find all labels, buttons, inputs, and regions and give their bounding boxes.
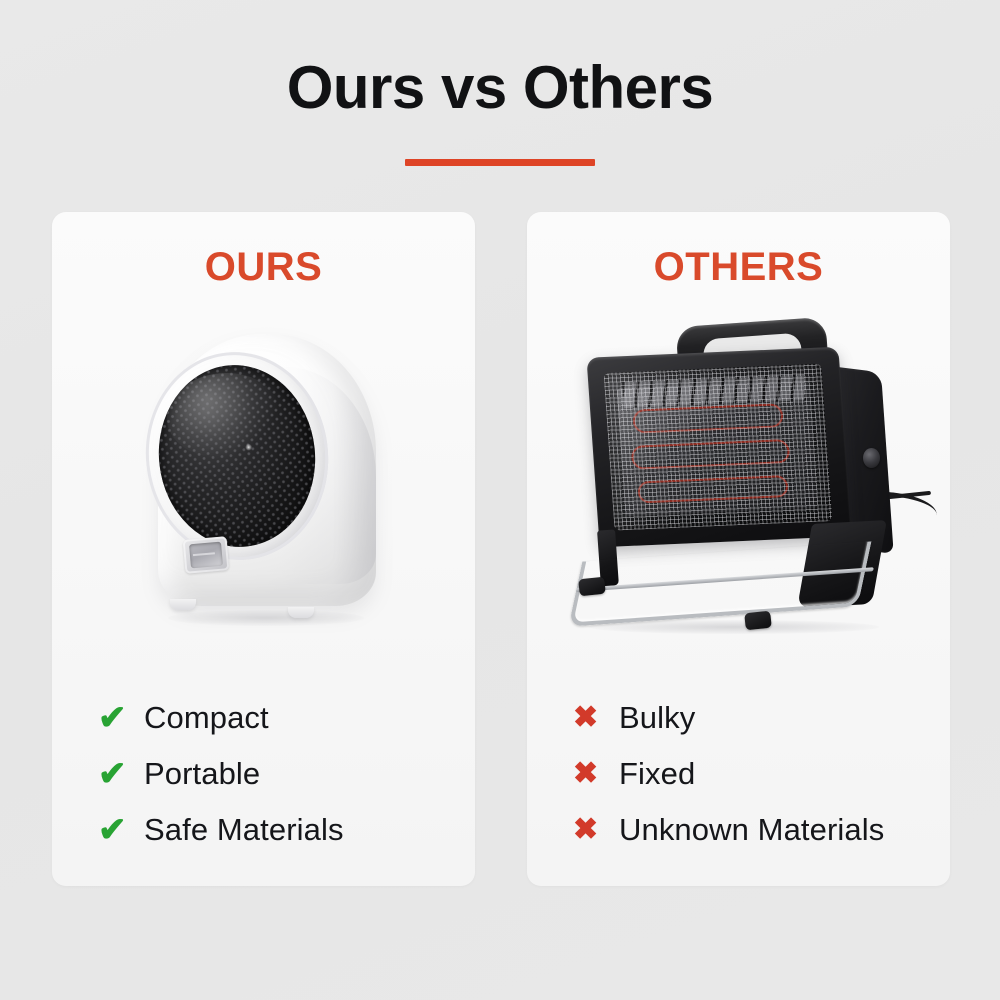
heater-grille xyxy=(604,363,833,530)
product-contact-shadow xyxy=(168,610,364,626)
list-item: ✔ Compact xyxy=(98,690,451,746)
list-item: ✖ Unknown Materials xyxy=(573,802,926,858)
heater-grille xyxy=(150,357,324,554)
product-image-ours xyxy=(52,312,475,662)
feature-label: Portable xyxy=(144,756,260,792)
list-item: ✖ Fixed xyxy=(573,746,926,802)
card-title-others: OTHERS xyxy=(527,245,950,290)
feature-list-others: ✖ Bulky ✖ Fixed ✖ Unknown Materials xyxy=(573,690,926,858)
comparison-cards: OURS xyxy=(52,212,950,886)
quartz-radiant-heater-illustration xyxy=(569,316,929,634)
control-knob xyxy=(863,448,880,468)
power-rocker-switch xyxy=(183,536,230,574)
cross-icon: ✖ xyxy=(573,703,619,733)
rocker-switch-inner xyxy=(189,542,223,569)
honeycomb-mesh-pattern xyxy=(150,357,324,554)
compact-ceramic-heater-illustration xyxy=(140,328,392,628)
card-ours: OURS xyxy=(52,212,475,886)
comparison-infographic: Ours vs Others OURS xyxy=(0,0,1000,1000)
list-item: ✔ Safe Materials xyxy=(98,802,451,858)
heater-body-box xyxy=(586,347,851,548)
check-icon: ✔ xyxy=(98,701,144,735)
check-icon: ✔ xyxy=(98,757,144,791)
card-others: OTHERS xyxy=(527,212,950,886)
feature-label: Fixed xyxy=(619,756,695,792)
list-item: ✖ Bulky xyxy=(573,690,926,746)
check-icon: ✔ xyxy=(98,813,144,847)
grille-glare-highlight xyxy=(604,363,747,530)
card-title-ours: OURS xyxy=(52,245,475,290)
title-underline-bar xyxy=(405,159,595,166)
page-title: Ours vs Others xyxy=(0,56,1000,119)
list-item: ✔ Portable xyxy=(98,746,451,802)
stand-rubber-grip xyxy=(744,611,772,631)
header: Ours vs Others xyxy=(0,56,1000,166)
feature-label: Compact xyxy=(144,700,269,736)
feature-label: Safe Materials xyxy=(144,812,344,848)
heater-foot-left xyxy=(170,599,196,610)
product-image-others xyxy=(527,312,950,662)
feature-label: Unknown Materials xyxy=(619,812,884,848)
cross-icon: ✖ xyxy=(573,759,619,789)
heater-foot-right xyxy=(288,607,314,618)
stand-rubber-grip xyxy=(578,577,606,597)
feature-list-ours: ✔ Compact ✔ Portable ✔ Safe Materials xyxy=(98,690,451,858)
feature-label: Bulky xyxy=(619,700,695,736)
cross-icon: ✖ xyxy=(573,815,619,845)
